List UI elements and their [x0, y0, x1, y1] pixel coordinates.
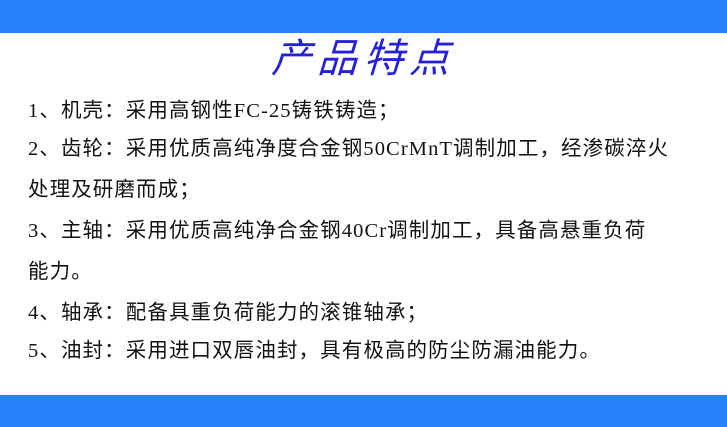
top-blue-band — [0, 0, 727, 33]
bottom-blue-band — [0, 395, 727, 427]
page-title: 产品特点 — [0, 31, 727, 87]
feature-line-2: 2、齿轮：采用优质高纯净度合金钢50CrMnT调制加工，经渗碳淬火 — [28, 130, 708, 168]
feature-line-1: 1、机壳：采用高钢性FC-25铸铁铸造； — [28, 92, 708, 130]
feature-line-3: 3、主轴：采用优质高纯净合金钢40Cr调制加工，具备高悬重负荷 — [28, 212, 708, 250]
feature-line-2-continued: 处理及研磨而成； — [28, 168, 708, 212]
feature-line-5: 5、油封：采用进口双唇油封，具有极高的防尘防漏油能力。 — [28, 332, 708, 370]
product-features-poster: 产品特点 1、机壳：采用高钢性FC-25铸铁铸造； 2、齿轮：采用优质高纯净度合… — [0, 0, 727, 427]
feature-line-4: 4、轴承：配备具重负荷能力的滚锥轴承； — [28, 294, 708, 332]
feature-list: 1、机壳：采用高钢性FC-25铸铁铸造； 2、齿轮：采用优质高纯净度合金钢50C… — [28, 92, 708, 370]
feature-line-3-continued: 能力。 — [28, 250, 708, 294]
